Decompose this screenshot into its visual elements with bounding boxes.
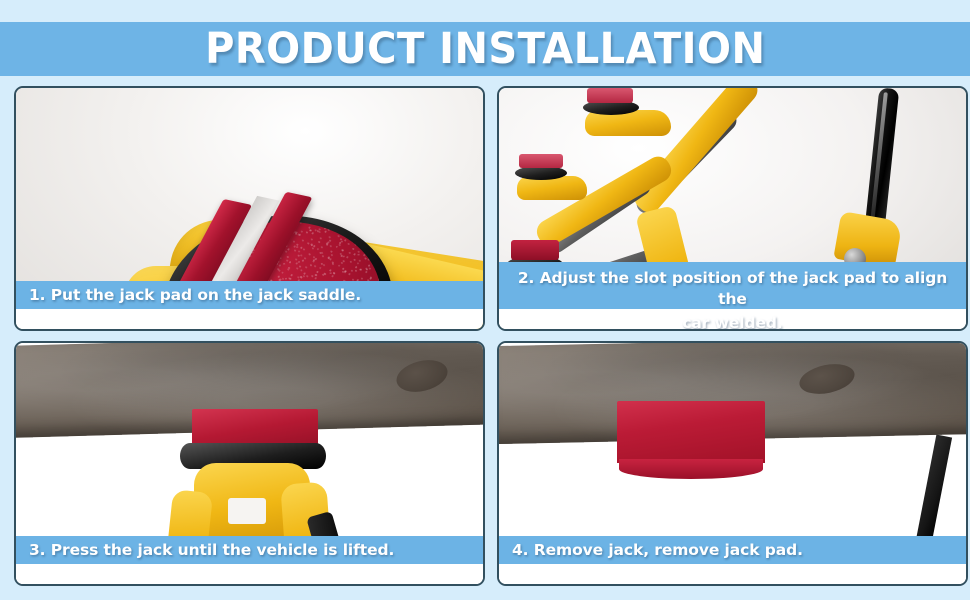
infographic-page: PRODUCT INSTALLATION bbox=[0, 0, 970, 600]
step-3-caption: 3. Press the jack until the vehicle is l… bbox=[16, 536, 483, 564]
caption-text: 1. Put the jack pad on the jack saddle. bbox=[29, 286, 361, 304]
jack-head-cutout bbox=[228, 498, 266, 524]
jack-pad-low bbox=[511, 240, 559, 260]
caption-underlay bbox=[16, 564, 483, 584]
caption-text: 4. Remove jack, remove jack pad. bbox=[512, 541, 803, 559]
step-2-caption: 2. Adjust the slot position of the jack … bbox=[499, 262, 966, 309]
caption-text-line-1: 2. Adjust the slot position of the jack … bbox=[515, 265, 950, 310]
step-panel-2: 2. Adjust the slot position of the jack … bbox=[497, 86, 968, 331]
saddle-mid bbox=[515, 166, 567, 180]
step-panel-1: 1. Put the jack pad on the jack saddle. bbox=[14, 86, 485, 331]
jack-pad-attached bbox=[617, 401, 765, 463]
header-banner: PRODUCT INSTALLATION bbox=[0, 22, 970, 76]
jack-pad-high bbox=[587, 88, 633, 103]
page-title: PRODUCT INSTALLATION bbox=[205, 24, 765, 74]
caption-underlay bbox=[16, 309, 483, 329]
caption-underlay bbox=[499, 564, 966, 584]
step-panel-3: 3. Press the jack until the vehicle is l… bbox=[14, 341, 485, 586]
steps-grid: 1. Put the jack pad on the jack saddle. bbox=[14, 86, 958, 586]
step-1-caption: 1. Put the jack pad on the jack saddle. bbox=[16, 281, 483, 309]
jack-pad-base-disc bbox=[619, 459, 763, 479]
lift-head-mid bbox=[517, 176, 587, 200]
caption-text: 3. Press the jack until the vehicle is l… bbox=[29, 541, 394, 559]
jack-pad-mid bbox=[519, 154, 563, 168]
step-panel-4: 4. Remove jack, remove jack pad. bbox=[497, 341, 968, 586]
caption-text-line-2: car welded. bbox=[515, 310, 950, 331]
step-4-caption: 4. Remove jack, remove jack pad. bbox=[499, 536, 966, 564]
